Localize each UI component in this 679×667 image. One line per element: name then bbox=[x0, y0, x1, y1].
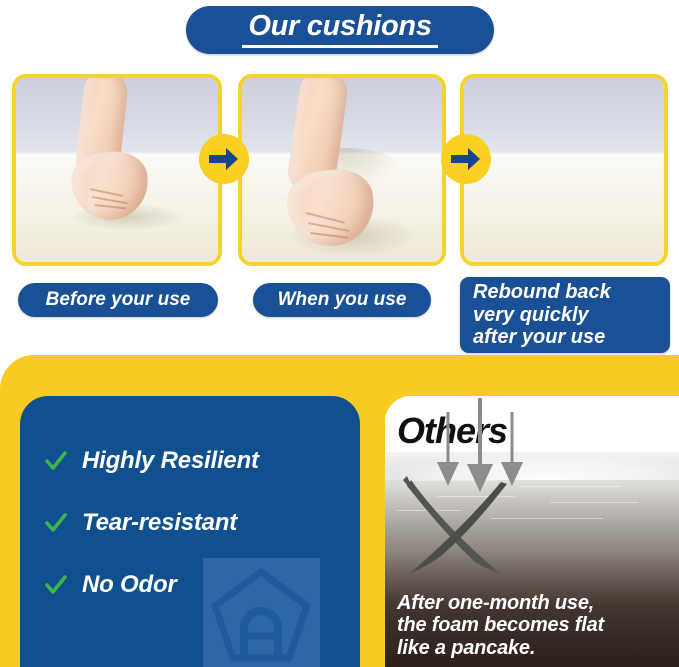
foam-fiber-texture bbox=[520, 486, 620, 487]
scene-before-use bbox=[16, 78, 218, 262]
check-icon bbox=[44, 511, 68, 535]
feature-label: Tear-resistant bbox=[82, 509, 237, 537]
others-caption-line-2: the foam becomes flat bbox=[397, 614, 673, 636]
infographic-page: Our cushions bbox=[0, 0, 679, 667]
arrow-stem bbox=[447, 412, 450, 462]
caption-rebound-line-1: Rebound back bbox=[473, 281, 611, 303]
title-underline bbox=[242, 45, 438, 48]
others-caption-line-1: After one-month use, bbox=[397, 592, 673, 614]
arrow-stem bbox=[511, 412, 514, 462]
caption-before-use: Before your use bbox=[18, 283, 218, 317]
scene-after-rebound bbox=[464, 78, 664, 262]
pentagon-house-logo-icon bbox=[203, 558, 320, 667]
arrow-stem bbox=[478, 398, 482, 464]
right-arrow-icon bbox=[199, 134, 249, 184]
check-icon bbox=[44, 449, 68, 473]
foam-front-edge bbox=[464, 153, 664, 156]
scene-foam-surface bbox=[464, 155, 664, 262]
x-cross-icon bbox=[397, 474, 529, 582]
demo-panel-rebound bbox=[460, 74, 668, 266]
demo-panel-before bbox=[12, 74, 222, 266]
feature-label: Highly Resilient bbox=[82, 447, 259, 475]
others-caption-line-3: like a pancake. bbox=[397, 637, 673, 659]
caption-rebound-line-2: very quickly bbox=[473, 304, 589, 326]
feature-item: Tear-resistant bbox=[44, 492, 350, 554]
others-comparison-panel: Others After one-month use, the foam bec… bbox=[385, 396, 679, 667]
page-title: Our cushions bbox=[248, 12, 431, 41]
check-icon bbox=[44, 573, 68, 597]
foam-fiber-texture bbox=[550, 502, 638, 503]
scene-background-wall bbox=[464, 78, 664, 155]
scene-when-using bbox=[242, 78, 442, 262]
page-title-banner: Our cushions bbox=[186, 6, 494, 54]
demo-panel-during bbox=[238, 74, 446, 266]
feature-item: Highly Resilient bbox=[44, 430, 350, 492]
right-arrow-icon bbox=[441, 134, 491, 184]
others-caption: After one-month use, the foam becomes fl… bbox=[397, 592, 673, 659]
caption-when-you-use: When you use bbox=[253, 283, 431, 317]
caption-rebound-line-3: after your use bbox=[473, 326, 605, 348]
caption-rebound: Rebound back very quickly after your use bbox=[460, 277, 670, 353]
feature-label: No Odor bbox=[82, 571, 177, 599]
